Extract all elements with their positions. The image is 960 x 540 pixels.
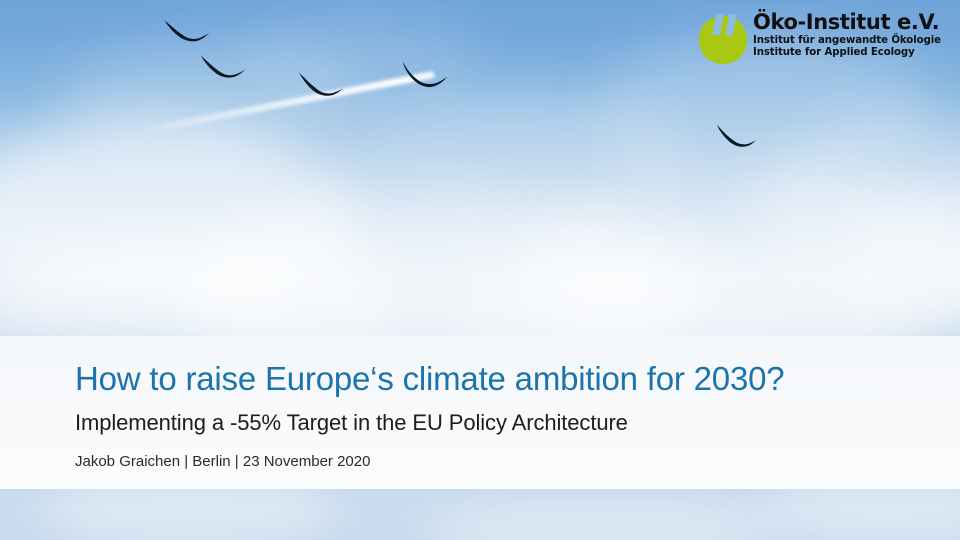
logo-organisation-name: Öko-Institut e.V. — [753, 10, 953, 35]
footer-haze — [420, 499, 780, 540]
footer-band — [0, 489, 960, 540]
logo-tagline-english: Institute for Applied Ecology — [753, 47, 953, 59]
slide-subtitle: Implementing a -55% Target in the EU Pol… — [75, 410, 628, 436]
footer-haze — [40, 489, 340, 540]
logo-tagline-german: Institut für angewandte Ökologie — [753, 35, 953, 47]
oko-institut-logo-text: Öko-Institut e.V. Institut für angewandt… — [753, 10, 953, 60]
oko-institut-logo-mark-icon — [697, 14, 749, 66]
slide-byline: Jakob Graichen | Berlin | 23 November 20… — [75, 453, 370, 470]
title-photo: Öko-Institut e.V. Institut für angewandt… — [0, 0, 960, 336]
slide-title: How to raise Europe‘s climate ambition f… — [75, 360, 784, 398]
oko-institut-logo: Öko-Institut e.V. Institut für angewandt… — [697, 10, 952, 72]
footer-haze — [760, 489, 960, 540]
title-text-band: How to raise Europe‘s climate ambition f… — [0, 336, 960, 489]
presentation-slide: Öko-Institut e.V. Institut für angewandt… — [0, 0, 960, 540]
